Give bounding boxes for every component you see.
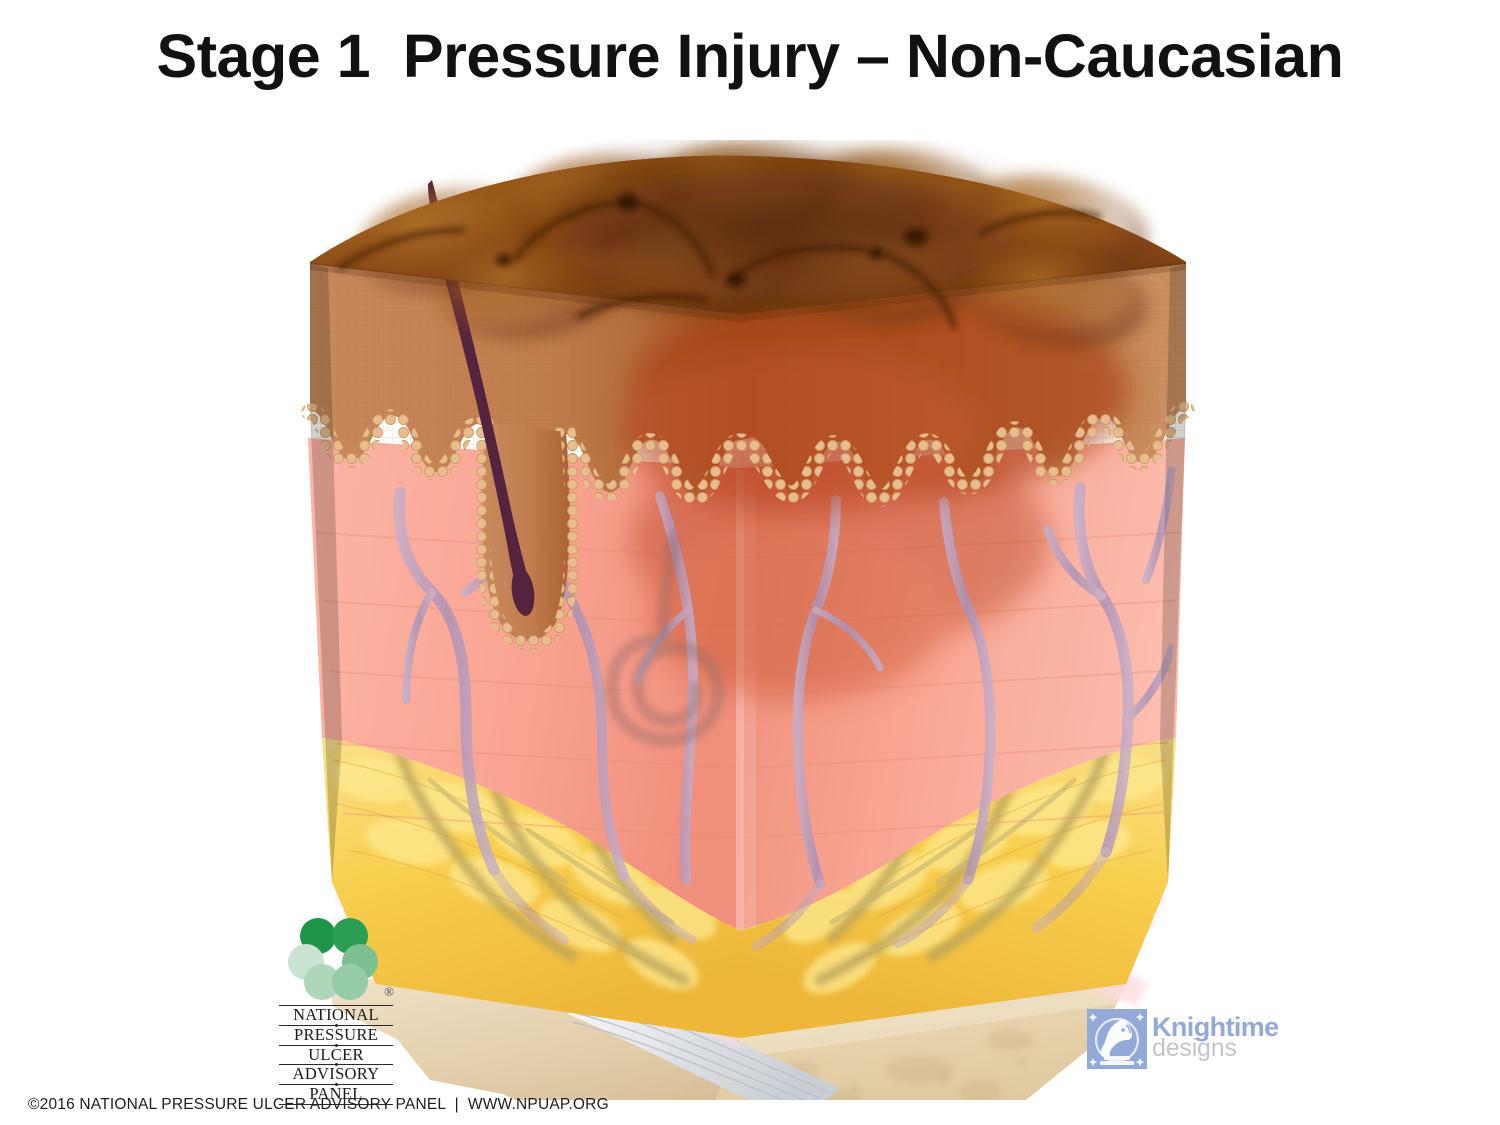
knightime-designs-logo: Knightime designs [1086, 1006, 1266, 1074]
npuap-line-advisory: ADVISORY [275, 1065, 397, 1084]
logo-divider [279, 1064, 393, 1065]
knight-horse-badge-icon [1086, 1008, 1148, 1070]
knightime-wordmark: Knightime designs [1152, 1014, 1279, 1060]
registered-trademark-icon: ® [384, 984, 394, 1000]
npuap-logo-text: NATIONAL PRESSURE ULCER ADVISORY PANEL [275, 1005, 397, 1105]
skin-cross-section-block [280, 140, 1220, 1100]
npuap-line-national: NATIONAL [275, 1006, 397, 1025]
logo-divider [279, 1005, 393, 1006]
slide-canvas: Stage 1 Pressure Injury – Non-Caucasian [0, 0, 1500, 1125]
logo-divider [279, 1045, 393, 1046]
npuap-line-pressure: PRESSURE [275, 1026, 397, 1045]
logo-divider [279, 1084, 393, 1085]
npuap-line-ulcer: ULCER [275, 1046, 397, 1065]
page-title: Stage 1 Pressure Injury – Non-Caucasian [0, 24, 1500, 88]
logo-divider [279, 1025, 393, 1026]
logo-circle-light-low-right [332, 964, 368, 1000]
npuap-logo-mark: ® [288, 918, 384, 1004]
npuap-logo: ® NATIONAL PRESSURE ULCER ADVISORY PANEL [275, 918, 397, 1105]
copyright-footer: ©2016 NATIONAL PRESSURE ULCER ADVISORY P… [28, 1096, 609, 1114]
